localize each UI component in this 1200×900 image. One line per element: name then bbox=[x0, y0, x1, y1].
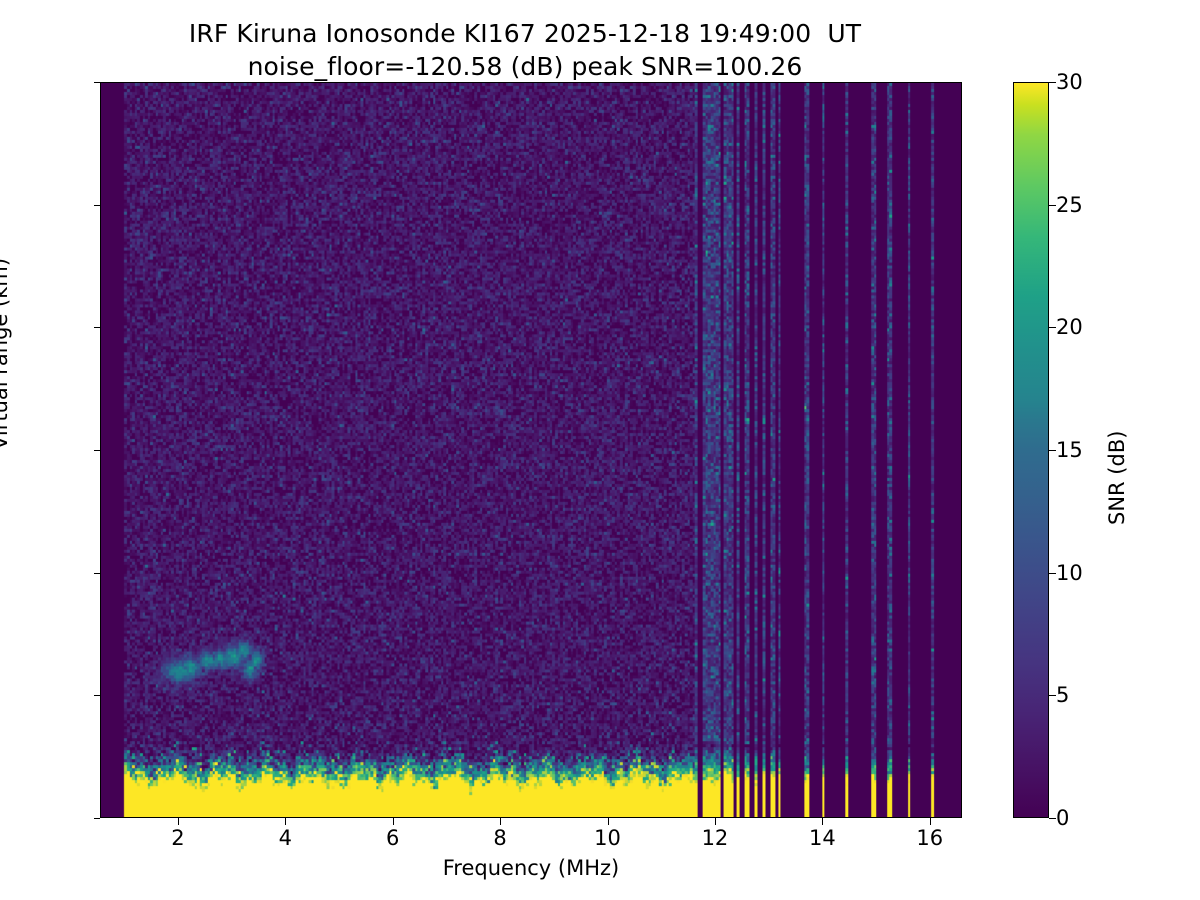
y-tick-mark bbox=[94, 695, 101, 696]
y-tick-mark bbox=[94, 573, 101, 574]
x-axis-label: Frequency (MHz) bbox=[100, 856, 962, 880]
x-tick-label: 4 bbox=[225, 826, 345, 850]
ionogram-figure: IRF Kiruna Ionosonde KI167 2025-12-18 19… bbox=[0, 0, 1200, 900]
x-tick-mark bbox=[608, 818, 609, 825]
y-tick-mark bbox=[94, 818, 101, 819]
colorbar-tick-mark bbox=[1049, 205, 1056, 206]
x-tick-mark bbox=[930, 818, 931, 825]
x-tick-label: 2 bbox=[118, 826, 238, 850]
x-tick-label: 10 bbox=[548, 826, 668, 850]
colorbar-tick-mark bbox=[1049, 573, 1056, 574]
x-tick-label: 12 bbox=[655, 826, 775, 850]
y-tick-mark bbox=[94, 450, 101, 451]
colorbar-tick-label: 30 bbox=[1056, 70, 1083, 94]
x-tick-label: 14 bbox=[762, 826, 882, 850]
y-tick-mark bbox=[94, 327, 101, 328]
y-tick-mark bbox=[94, 205, 101, 206]
x-tick-mark bbox=[822, 818, 823, 825]
title-line-1: IRF Kiruna Ionosonde KI167 2025-12-18 19… bbox=[0, 18, 1050, 51]
colorbar-tick-mark bbox=[1049, 450, 1056, 451]
x-tick-mark bbox=[715, 818, 716, 825]
x-tick-mark bbox=[285, 818, 286, 825]
colorbar-tick-label: 20 bbox=[1056, 315, 1083, 339]
x-tick-mark bbox=[500, 818, 501, 825]
colorbar-tick-label: 0 bbox=[1056, 806, 1069, 830]
colorbar-tick-label: 15 bbox=[1056, 438, 1083, 462]
x-tick-label: 8 bbox=[440, 826, 560, 850]
colorbar-tick-label: 25 bbox=[1056, 193, 1083, 217]
colorbar-gradient bbox=[1013, 82, 1049, 818]
colorbar-label: SNR (dB) bbox=[1105, 431, 1129, 525]
y-axis-label: Virtual range (km) bbox=[0, 258, 12, 450]
ionogram-heatmap-canvas bbox=[101, 83, 961, 817]
title-line-2: noise_floor=-120.58 (dB) peak SNR=100.26 bbox=[0, 51, 1050, 84]
colorbar-tick-mark bbox=[1049, 82, 1056, 83]
x-tick-mark bbox=[178, 818, 179, 825]
x-tick-label: 6 bbox=[333, 826, 453, 850]
colorbar-tick-mark bbox=[1049, 695, 1056, 696]
colorbar-tick-label: 10 bbox=[1056, 561, 1083, 585]
x-tick-label: 16 bbox=[870, 826, 990, 850]
colorbar-tick-mark bbox=[1049, 818, 1056, 819]
ionogram-plot-area bbox=[100, 82, 962, 818]
y-tick-mark bbox=[94, 82, 101, 83]
x-tick-mark bbox=[393, 818, 394, 825]
colorbar-tick-mark bbox=[1049, 327, 1056, 328]
colorbar-tick-label: 5 bbox=[1056, 683, 1069, 707]
figure-title: IRF Kiruna Ionosonde KI167 2025-12-18 19… bbox=[0, 18, 1050, 83]
